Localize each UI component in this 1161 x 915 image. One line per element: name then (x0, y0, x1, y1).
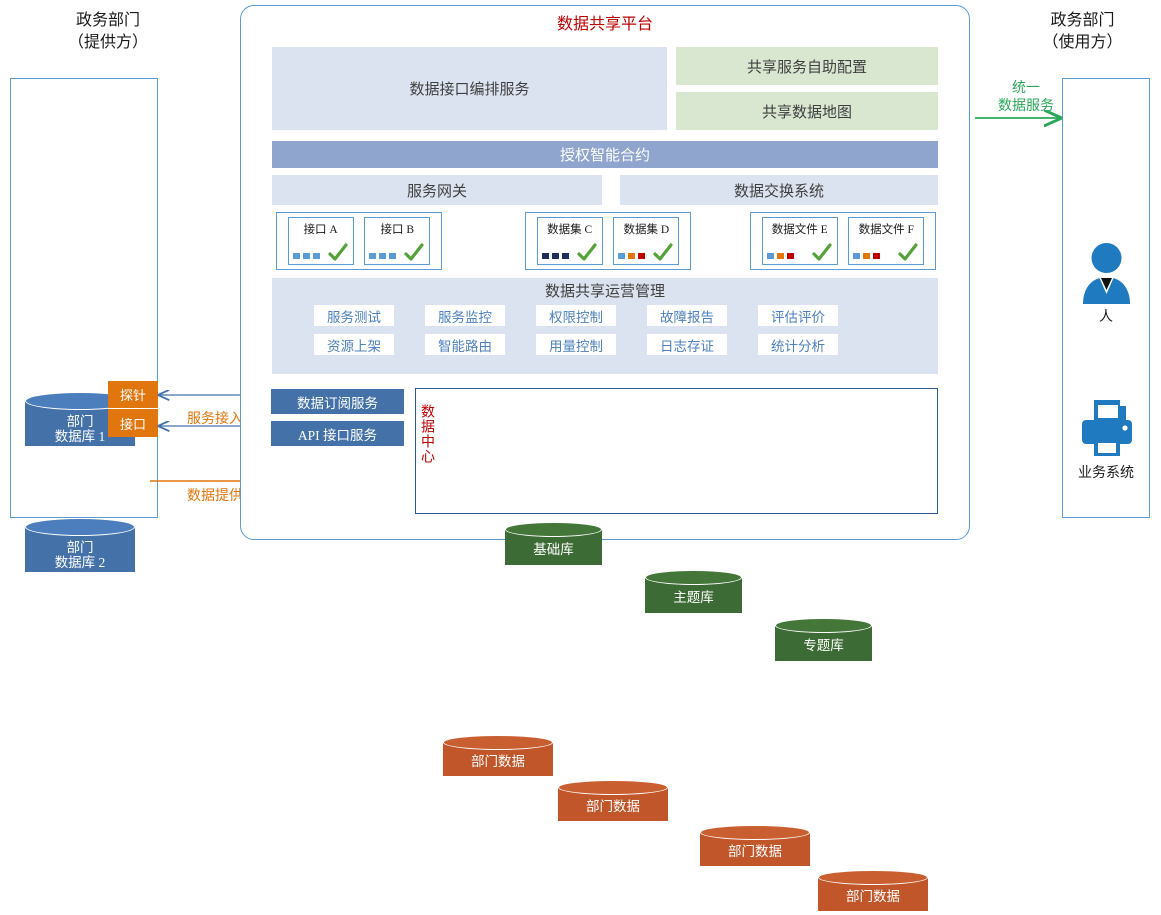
card-datafile-e-marks (767, 253, 794, 259)
self-service-config-block[interactable]: 共享服务自助配置 (676, 47, 938, 85)
dept-data-3-top (700, 825, 810, 840)
dataset-cards: 数据集 C 数据集 D (525, 212, 691, 270)
store-topic-top (645, 570, 742, 585)
card-dataset-c-marks (542, 253, 569, 259)
store-special-label: 专题库 (775, 638, 872, 653)
store-special-top (775, 618, 872, 633)
dept-data-4-label: 部门数据 (818, 889, 928, 904)
printer-icon (1078, 398, 1136, 460)
platform-title: 数据共享平台 (240, 10, 970, 34)
card-dataset-d-label: 数据集 D (614, 221, 678, 237)
smart-contract-band[interactable]: 授权智能合约 (272, 141, 938, 168)
ops-cell-service-monitor[interactable]: 服务监控 (425, 305, 505, 326)
data-center-frame (415, 388, 938, 514)
card-interface-a[interactable]: 接口 A (288, 217, 354, 265)
unified-service-arrow (975, 108, 1070, 128)
card-interface-b[interactable]: 接口 B (364, 217, 430, 265)
consumer-column-title: 政务部门 （使用方） (1010, 10, 1155, 53)
card-datafile-f-marks (853, 253, 880, 259)
provider-db-2: 部门 数据库 2 (25, 518, 135, 580)
person-caption: 人 (1062, 306, 1150, 326)
ops-row-1: 服务测试 服务监控 权限控制 故障报告 评估评价 (314, 305, 938, 326)
ops-cell-smart-routing[interactable]: 智能路由 (425, 334, 505, 355)
ops-cell-fault-report[interactable]: 故障报告 (647, 305, 727, 326)
ops-cell-log-evidence[interactable]: 日志存证 (647, 334, 727, 355)
card-datafile-f[interactable]: 数据文件 F (848, 217, 924, 265)
check-icon (811, 243, 833, 263)
card-interface-a-marks (293, 253, 320, 259)
orchestration-service-block[interactable]: 数据接口编排服务 (272, 47, 667, 130)
person-icon (1079, 242, 1134, 304)
ops-cell-resource-listing[interactable]: 资源上架 (314, 334, 394, 355)
dept-data-2-top (558, 780, 668, 795)
store-basic-label: 基础库 (505, 542, 602, 557)
check-icon (327, 243, 349, 263)
dept-data-2-label: 部门数据 (558, 799, 668, 814)
ops-management-title: 数据共享运营管理 (272, 278, 938, 303)
dept-data-4: 部门数据 (818, 870, 928, 915)
card-dataset-d[interactable]: 数据集 D (613, 217, 679, 265)
dept-data-3: 部门数据 (700, 825, 810, 870)
data-center-label: 数据中心 (419, 404, 433, 494)
store-basic-top (505, 522, 602, 537)
ops-row-2: 资源上架 智能路由 用量控制 日志存证 统计分析 (314, 334, 938, 355)
card-interface-a-label: 接口 A (289, 221, 353, 237)
card-datafile-f-label: 数据文件 F (849, 221, 923, 237)
ops-management-panel: 数据共享运营管理 服务测试 服务监控 权限控制 故障报告 评估评价 资源上架 智… (272, 278, 938, 374)
ops-cell-usage-control[interactable]: 用量控制 (536, 334, 616, 355)
store-topic: 主题库 (645, 570, 742, 618)
card-interface-b-label: 接口 B (365, 221, 429, 237)
ops-cell-service-test[interactable]: 服务测试 (314, 305, 394, 326)
datafile-cards: 数据文件 E 数据文件 F (750, 212, 936, 270)
data-exchange-band[interactable]: 数据交换系统 (620, 175, 938, 205)
dept-data-1-label: 部门数据 (443, 754, 553, 769)
card-dataset-c-label: 数据集 C (538, 221, 602, 237)
business-system-caption: 业务系统 (1062, 462, 1150, 482)
check-icon (403, 243, 425, 263)
card-datafile-e-label: 数据文件 E (763, 221, 837, 237)
data-subscription-service[interactable]: 数据订阅服务 (271, 389, 404, 414)
shared-data-map-block[interactable]: 共享数据地图 (676, 92, 938, 130)
store-special: 专题库 (775, 618, 872, 666)
db-2-top (25, 518, 135, 536)
check-icon (652, 243, 674, 263)
store-basic: 基础库 (505, 522, 602, 570)
service-gateway-cards: 接口 A 接口 B (276, 212, 442, 270)
ops-cell-permission[interactable]: 权限控制 (536, 305, 616, 326)
card-interface-b-marks (369, 253, 396, 259)
dept-data-2: 部门数据 (558, 780, 668, 825)
card-datafile-e[interactable]: 数据文件 E (762, 217, 838, 265)
store-topic-label: 主题库 (645, 590, 742, 605)
card-dataset-c[interactable]: 数据集 C (537, 217, 603, 265)
dept-data-4-top (818, 870, 928, 885)
check-icon (897, 243, 919, 263)
api-interface-service[interactable]: API 接口服务 (271, 421, 404, 446)
ops-cell-assessment[interactable]: 评估评价 (758, 305, 838, 326)
dept-data-1: 部门数据 (443, 735, 553, 780)
dept-data-1-top (443, 735, 553, 750)
service-gateway-band[interactable]: 服务网关 (272, 175, 602, 205)
card-dataset-d-marks (618, 253, 645, 259)
dept-data-3-label: 部门数据 (700, 844, 810, 859)
provider-column-title: 政务部门 （提供方） (8, 10, 208, 53)
check-icon (576, 243, 598, 263)
ops-cell-statistics[interactable]: 统计分析 (758, 334, 838, 355)
